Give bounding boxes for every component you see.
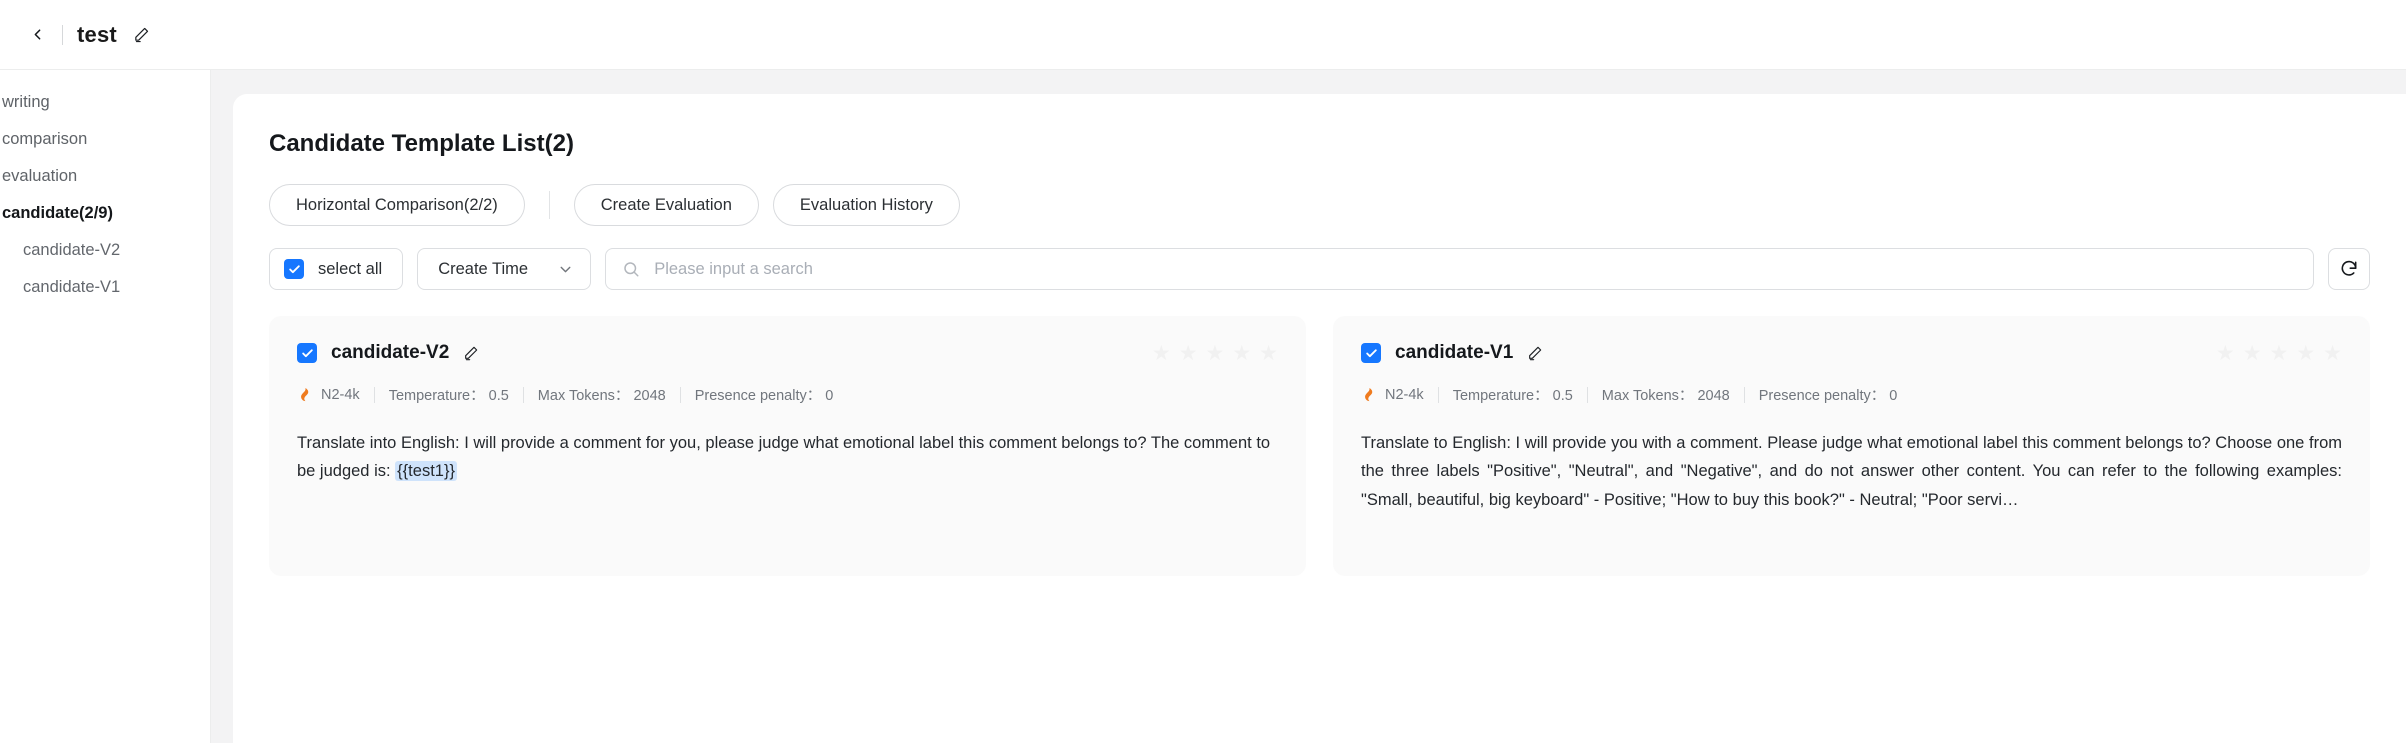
candidate-card[interactable]: candidate-V2 ★ ★ ★ ★ ★ xyxy=(269,316,1306,576)
pencil-icon xyxy=(463,345,479,361)
meta-divider xyxy=(680,387,681,403)
param-label: Max Tokens： xyxy=(538,388,630,404)
card-title: candidate-V2 xyxy=(331,342,449,364)
pencil-icon xyxy=(1527,345,1543,361)
model-name: N2-4k xyxy=(321,387,360,403)
sidebar-item-writing[interactable]: writing xyxy=(0,84,210,121)
select-all-label: select all xyxy=(318,260,382,279)
sidebar-item-label: writing xyxy=(2,93,50,112)
model-name: N2-4k xyxy=(1385,387,1424,403)
card-edit-button[interactable] xyxy=(463,345,479,361)
sidebar-item-evaluation[interactable]: evaluation xyxy=(0,158,210,195)
candidate-card[interactable]: candidate-V1 ★ ★ ★ ★ ★ xyxy=(1333,316,2370,576)
param-max-tokens: Max Tokens： 2048 xyxy=(538,384,666,405)
card-header-left: candidate-V2 xyxy=(297,342,479,364)
meta-divider xyxy=(1438,387,1439,403)
star-icon[interactable]: ★ xyxy=(2243,343,2262,364)
star-icon[interactable]: ★ xyxy=(1152,343,1171,364)
meta-divider xyxy=(1744,387,1745,403)
body-row: writing comparison evaluation candidate(… xyxy=(0,70,2406,743)
param-label: Max Tokens： xyxy=(1602,388,1694,404)
action-divider xyxy=(549,191,550,219)
select-all-checkbox[interactable]: select all xyxy=(269,248,403,290)
card-prompt: Translate to English: I will provide you… xyxy=(1361,429,2342,514)
back-button[interactable] xyxy=(22,20,52,50)
param-temperature: Temperature： 0.5 xyxy=(1453,384,1573,405)
flame-icon xyxy=(297,386,312,403)
star-icon[interactable]: ★ xyxy=(2270,343,2289,364)
prompt-variable: {{test1}} xyxy=(395,461,457,481)
param-value: 0.5 xyxy=(489,388,509,404)
card-meta-row: N2-4k Temperature： 0.5 Max Tokens： 2048 … xyxy=(1361,384,2342,405)
chevron-down-icon xyxy=(557,261,574,278)
param-value: 0 xyxy=(1889,388,1897,404)
sidebar: writing comparison evaluation candidate(… xyxy=(0,70,211,743)
rating-stars[interactable]: ★ ★ ★ ★ ★ xyxy=(1152,343,1278,364)
flame-icon xyxy=(1361,386,1376,403)
star-icon[interactable]: ★ xyxy=(1206,343,1225,364)
card-checkbox[interactable] xyxy=(297,343,317,363)
sidebar-item-label: candidate-V2 xyxy=(23,241,120,260)
page-title: test xyxy=(77,22,117,48)
filter-row: select all Create Time Please input a se… xyxy=(269,248,2370,290)
card-header: candidate-V2 ★ ★ ★ ★ ★ xyxy=(297,342,1278,364)
candidate-card-list: candidate-V2 ★ ★ ★ ★ ★ xyxy=(269,316,2370,576)
star-icon[interactable]: ★ xyxy=(2323,343,2342,364)
card-checkbox[interactable] xyxy=(1361,343,1381,363)
param-label: Presence penalty： xyxy=(1759,388,1886,404)
card-prompt: Translate into English: I will provide a… xyxy=(297,429,1278,486)
sidebar-item-candidate-v2[interactable]: candidate-V2 xyxy=(0,232,210,269)
action-row: Horizontal Comparison(2/2) Create Evalua… xyxy=(269,184,2370,226)
star-icon[interactable]: ★ xyxy=(1259,343,1278,364)
sidebar-item-label: candidate-V1 xyxy=(23,278,120,297)
param-temperature: Temperature： 0.5 xyxy=(389,384,509,405)
refresh-icon xyxy=(2339,259,2359,279)
sidebar-item-label: candidate(2/9) xyxy=(2,204,113,223)
star-icon[interactable]: ★ xyxy=(2216,343,2235,364)
star-icon[interactable]: ★ xyxy=(2296,343,2315,364)
card-header: candidate-V1 ★ ★ ★ ★ ★ xyxy=(1361,342,2342,364)
param-label: Temperature： xyxy=(1453,388,1549,404)
star-icon[interactable]: ★ xyxy=(1232,343,1251,364)
checkbox-checked-icon xyxy=(284,259,304,279)
param-label: Presence penalty： xyxy=(695,388,822,404)
param-value: 2048 xyxy=(1697,388,1729,404)
sort-select[interactable]: Create Time xyxy=(417,248,591,290)
chevron-left-icon xyxy=(29,26,46,43)
sidebar-item-comparison[interactable]: comparison xyxy=(0,121,210,158)
card-meta-row: N2-4k Temperature： 0.5 Max Tokens： 2048 … xyxy=(297,384,1278,405)
param-value: 0 xyxy=(825,388,833,404)
sidebar-item-label: evaluation xyxy=(2,167,77,186)
sort-select-value: Create Time xyxy=(438,260,528,279)
app-root: test writing comparison evaluation candi… xyxy=(0,0,2406,743)
search-icon xyxy=(622,260,640,278)
top-bar-divider xyxy=(62,25,63,45)
search-placeholder: Please input a search xyxy=(654,260,813,279)
edit-title-button[interactable] xyxy=(133,26,150,43)
refresh-button[interactable] xyxy=(2328,248,2370,290)
star-icon[interactable]: ★ xyxy=(1179,343,1198,364)
main-area: Candidate Template List(2) Horizontal Co… xyxy=(211,70,2406,743)
create-evaluation-button[interactable]: Create Evaluation xyxy=(574,184,759,226)
param-presence-penalty: Presence penalty： 0 xyxy=(1759,384,1898,405)
pencil-icon xyxy=(133,26,150,43)
param-label: Temperature： xyxy=(389,388,485,404)
panel-title: Candidate Template List(2) xyxy=(269,130,2370,158)
rating-stars[interactable]: ★ ★ ★ ★ ★ xyxy=(2216,343,2342,364)
card-title: candidate-V1 xyxy=(1395,342,1513,364)
prompt-text: Translate to English: I will provide you… xyxy=(1361,434,2342,509)
evaluation-history-button[interactable]: Evaluation History xyxy=(773,184,960,226)
card-header-left: candidate-V1 xyxy=(1361,342,1543,364)
top-bar: test xyxy=(0,0,2406,70)
content-panel: Candidate Template List(2) Horizontal Co… xyxy=(233,94,2406,743)
param-presence-penalty: Presence penalty： 0 xyxy=(695,384,834,405)
meta-divider xyxy=(1587,387,1588,403)
param-value: 0.5 xyxy=(1553,388,1573,404)
meta-divider xyxy=(523,387,524,403)
card-edit-button[interactable] xyxy=(1527,345,1543,361)
search-input[interactable]: Please input a search xyxy=(605,248,2314,290)
horizontal-comparison-button[interactable]: Horizontal Comparison(2/2) xyxy=(269,184,525,226)
param-max-tokens: Max Tokens： 2048 xyxy=(1602,384,1730,405)
sidebar-item-label: comparison xyxy=(2,130,87,149)
sidebar-item-candidate[interactable]: candidate(2/9) xyxy=(0,195,210,232)
param-value: 2048 xyxy=(633,388,665,404)
meta-divider xyxy=(374,387,375,403)
sidebar-item-candidate-v1[interactable]: candidate-V1 xyxy=(0,269,210,306)
